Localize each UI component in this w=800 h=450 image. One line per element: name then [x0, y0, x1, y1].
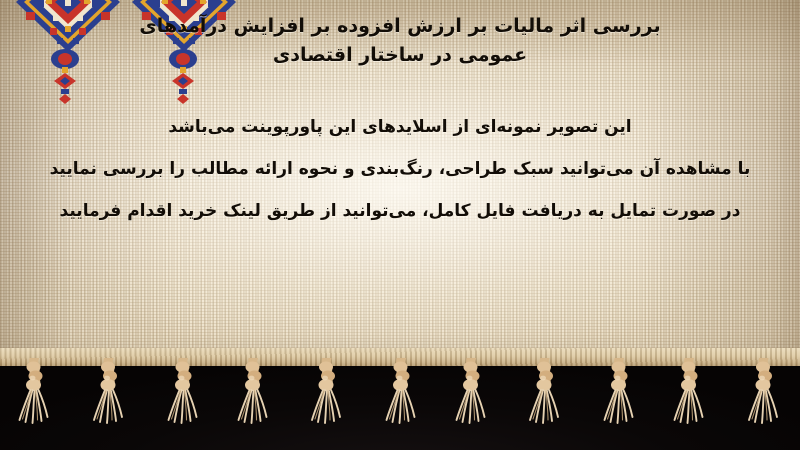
slide-title-line-1: بررسی اثر مالیات بر ارزش افزوده بر افزای…: [0, 12, 800, 41]
fringe-tassel: [522, 358, 568, 444]
presentation-slide: بررسی اثر مالیات بر ارزش افزوده بر افزای…: [0, 0, 800, 450]
fringe-tassel: [741, 358, 787, 444]
slide-title: بررسی اثر مالیات بر ارزش افزوده بر افزای…: [0, 12, 800, 69]
fringe-tassel: [377, 358, 423, 444]
fringe-tassel: [304, 358, 350, 444]
fringe-tassel: [159, 358, 205, 444]
fringe-tassel: [13, 358, 59, 444]
fringe-tassel: [668, 358, 714, 444]
slide-body-text: این تصویر نمونه‌ای از اسلایدهای این پاور…: [0, 106, 800, 232]
fringe-tassel: [86, 358, 132, 444]
fringe-tassel: [450, 358, 496, 444]
slide-title-line-2: عمومی در ساختار اقتصادی: [0, 41, 800, 70]
body-line-1: این تصویر نمونه‌ای از اسلایدهای این پاور…: [0, 106, 800, 148]
fringe-tassel: [595, 358, 641, 444]
body-line-2: با مشاهده آن می‌توانید سبک طراحی، رنگ‌بن…: [0, 148, 800, 190]
fringe-tassel: [232, 358, 278, 444]
body-line-3: در صورت تمایل به دریافت فایل کامل، می‌تو…: [0, 190, 800, 232]
carpet-fringe-row: [0, 356, 800, 444]
